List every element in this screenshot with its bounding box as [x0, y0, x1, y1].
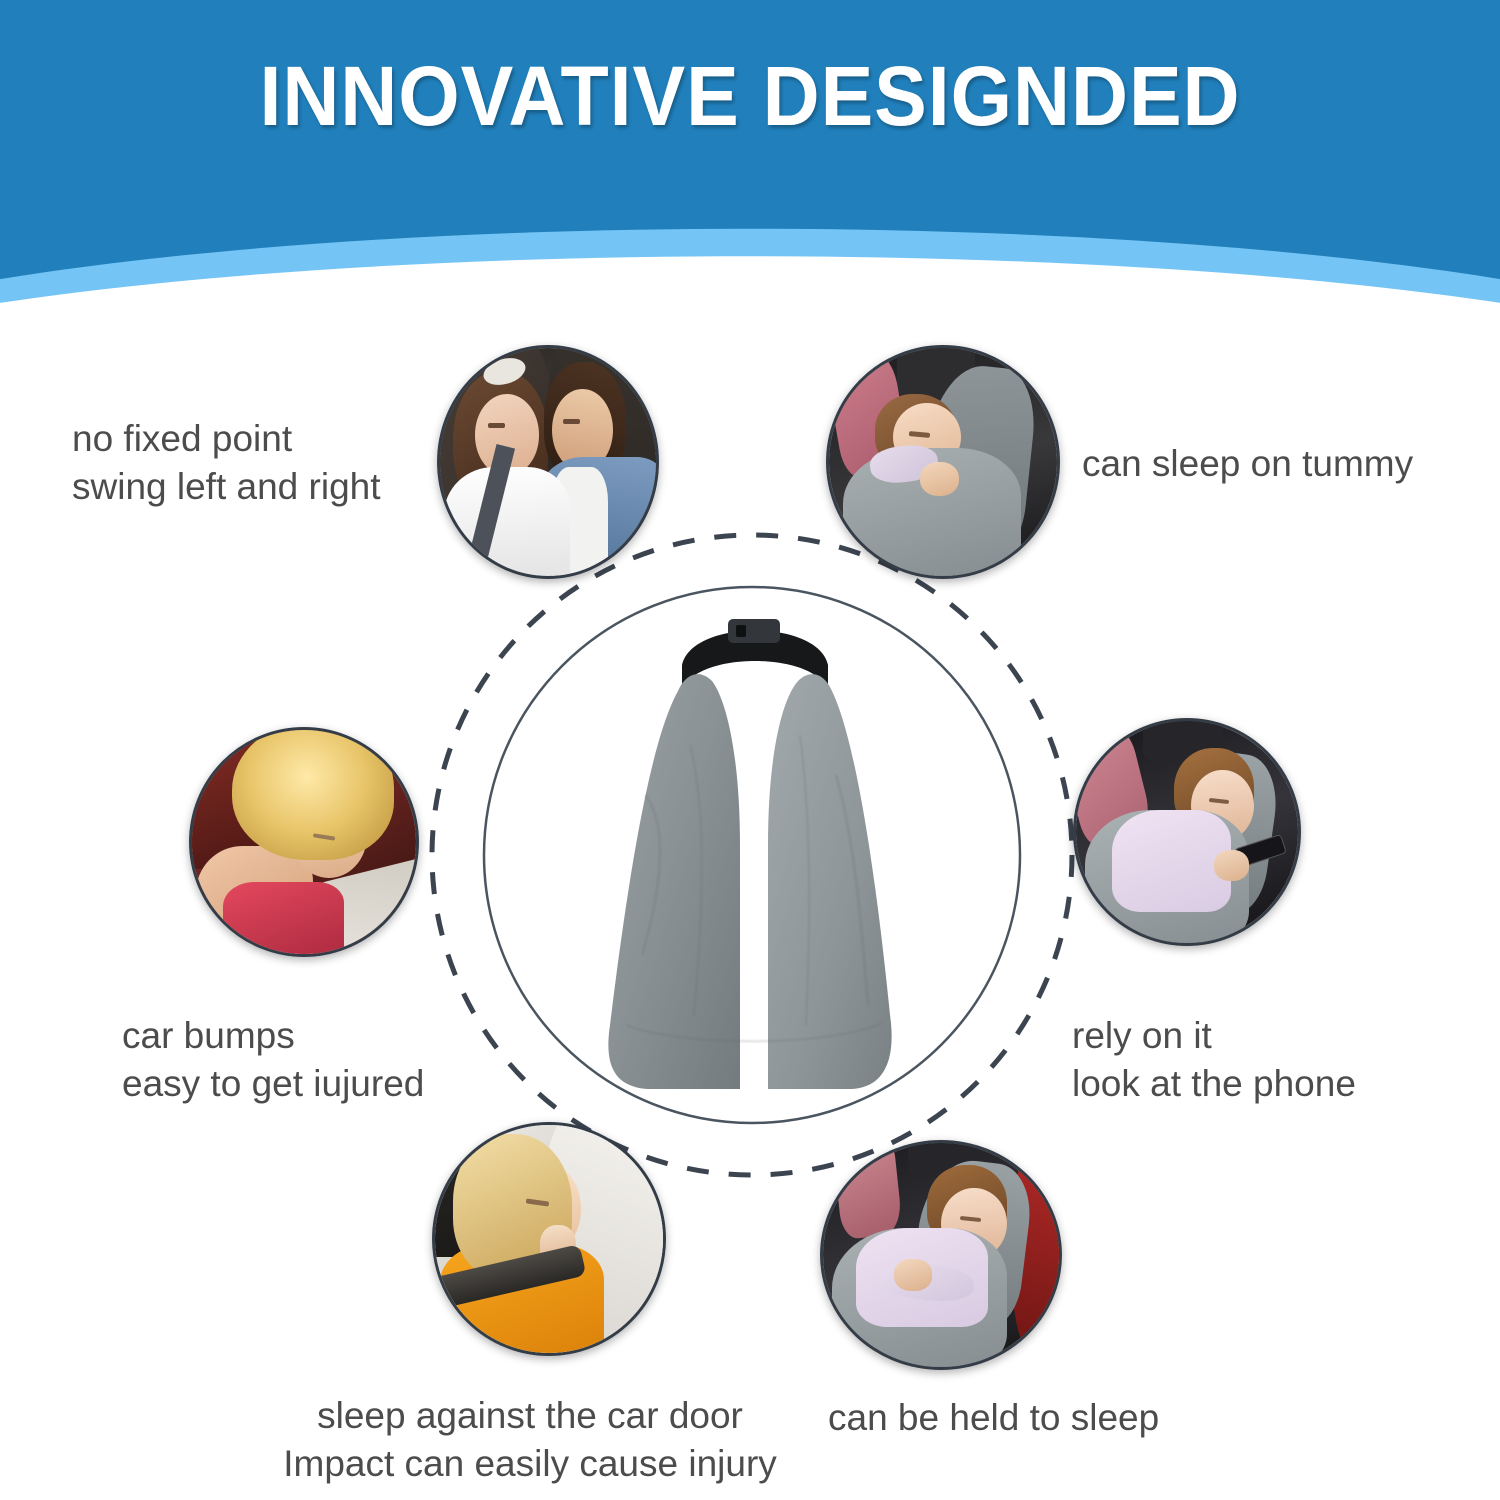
caption-car-bumps: car bumps easy to get iujured [122, 1012, 522, 1108]
caption-look-at-phone: rely on it look at the phone [1072, 1012, 1472, 1108]
photo-scene-girl-asleep-warm-light [192, 730, 416, 954]
caption-sleep-on-tummy: can sleep on tummy [1082, 440, 1482, 488]
photo-scene-kids-asleep-seatbelts [440, 348, 656, 576]
caption-held-to-sleep: can be held to sleep [828, 1394, 1248, 1442]
feature-photo-car-bumps[interactable] [189, 727, 419, 957]
photo-scene-girl-with-phone [1076, 721, 1298, 943]
product-image-travel-pillow [590, 595, 920, 1105]
infographic-page: INNOVATIVE DESIGNDED [0, 0, 1500, 1500]
page-title: INNOVATIVE DESIGNDED [45, 52, 1455, 140]
photo-scene-girl-yellow-shirt-door [435, 1125, 663, 1353]
pillow-buckle [728, 619, 780, 643]
feature-photo-sleep-on-tummy[interactable] [826, 345, 1060, 579]
caption-no-fixed-point: no fixed point swing left and right [72, 415, 472, 511]
feature-photo-held-to-sleep[interactable] [820, 1140, 1062, 1370]
caption-sleep-against-door: sleep against the car door Impact can ea… [250, 1392, 810, 1488]
feature-photo-look-at-phone[interactable] [1073, 718, 1301, 946]
photo-scene-girl-hugging-pillow [823, 1143, 1059, 1367]
photo-scene-sleeping-on-pillow [829, 348, 1057, 576]
feature-photo-sleep-against-door[interactable] [432, 1122, 666, 1356]
